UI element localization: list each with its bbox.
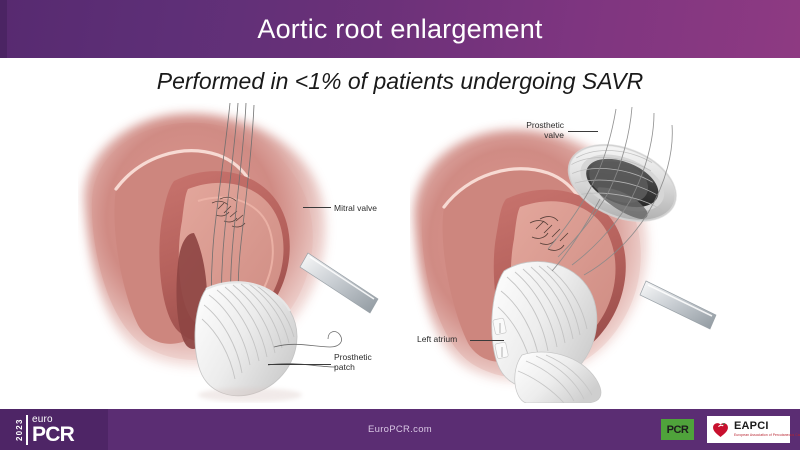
prosthetic-valve-implant-svg (410, 103, 720, 403)
prosthetic-patch-label: Prosthetic patch (334, 352, 372, 372)
aortic-root-patch-svg (78, 103, 428, 403)
slide-subtitle: Performed in <1% of patients undergoing … (0, 68, 800, 95)
heart-icon (711, 420, 730, 439)
left-illustration (78, 103, 428, 403)
slide-root: Aortic root enlargement Performed in <1%… (0, 0, 800, 450)
pcr-badge-logo: PCR (661, 419, 694, 440)
eapci-subtitle: European Association of Percutaneous Car… (734, 433, 800, 438)
left-atrium-leader-line (470, 340, 504, 341)
figure-area (0, 103, 800, 403)
eapci-logo: EAPCI European Association of Percutaneo… (707, 416, 790, 443)
prosthetic-patch-leader-line (268, 364, 331, 365)
page-title: Aortic root enlargement (0, 0, 800, 58)
prosthetic-valve-leader-line (568, 131, 598, 132)
left-atrium-label: Left atrium (417, 334, 457, 344)
title-bar: Aortic root enlargement (0, 0, 800, 58)
eapci-name: EAPCI (734, 421, 800, 432)
right-illustration (410, 103, 720, 403)
pcr-badge-text: PCR (667, 424, 689, 436)
footer-website-text: EuroPCR.com (368, 424, 432, 435)
mitral-valve-label: Mitral valve (334, 203, 377, 213)
mitral-valve-leader-line (303, 207, 331, 208)
prosthetic-valve-label: Prosthetic valve (508, 120, 564, 140)
eapci-text-block: EAPCI European Association of Percutaneo… (734, 421, 800, 438)
